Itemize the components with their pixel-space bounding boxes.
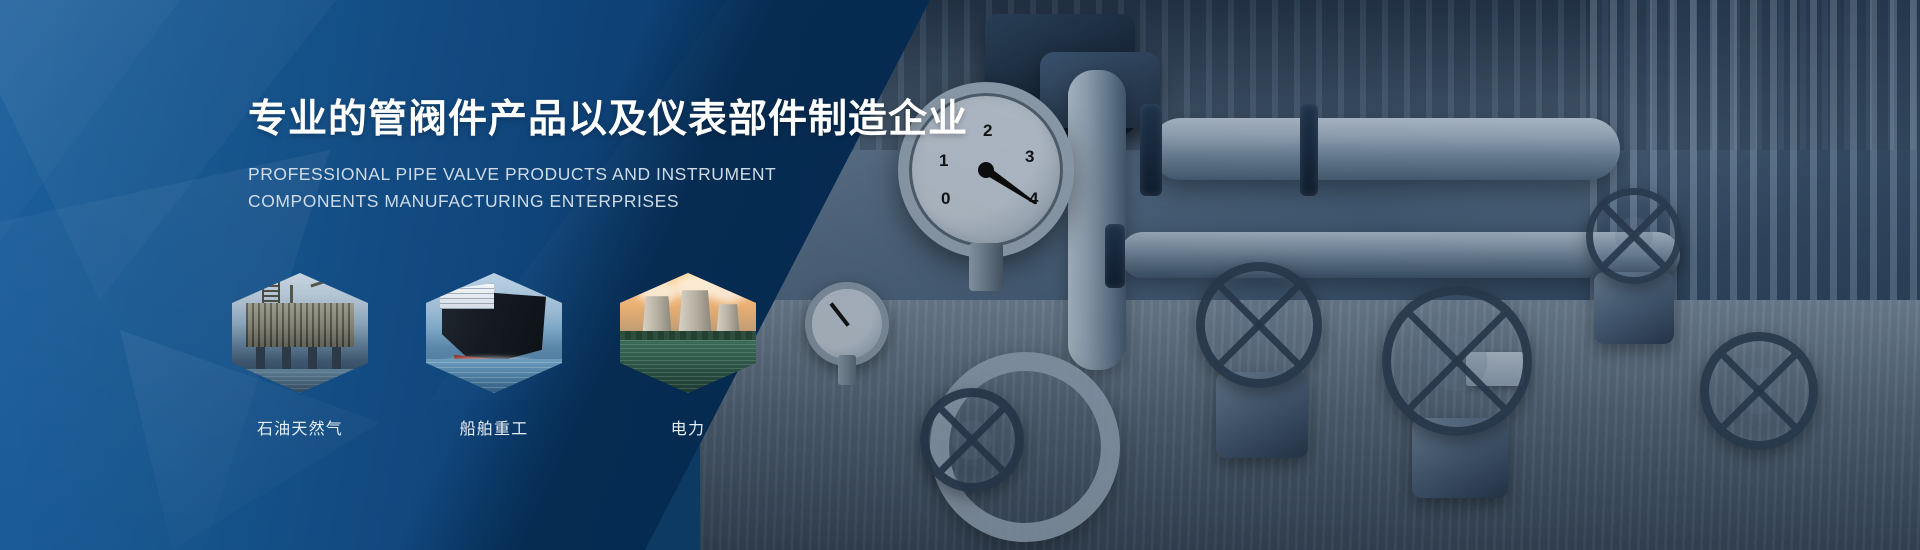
- oil-rig-image: [232, 273, 368, 393]
- ship-superstructure: [440, 283, 494, 309]
- hero-subtitle-line2: COMPONENTS MANUFACTURING ENTERPRISES: [248, 188, 968, 216]
- hero-subtitle: PROFESSIONAL PIPE VALVE PRODUCTS AND INS…: [248, 161, 968, 216]
- hero-subtitle-line1: PROFESSIONAL PIPE VALVE PRODUCTS AND INS…: [248, 161, 968, 189]
- sea-water: [426, 359, 562, 393]
- ship-hexagon-icon[interactable]: [426, 273, 562, 393]
- power-plant-image: [620, 273, 756, 393]
- ship-image: [426, 273, 562, 393]
- industry-item-power[interactable]: 电力: [620, 273, 756, 439]
- industry-label-shipbuilding: 船舶重工: [460, 415, 529, 439]
- hero-headline: 专业的管阀件产品以及仪表部件制造企业: [248, 96, 968, 144]
- industry-hexagon-row: 石油天然气 船舶重工: [232, 273, 756, 439]
- crane-boom: [310, 274, 345, 288]
- oil-rig-hexagon-icon[interactable]: [232, 273, 368, 393]
- industry-label-oil-gas: 石油天然气: [257, 415, 343, 439]
- rig-deck: [246, 303, 354, 347]
- steam-plume: [712, 285, 744, 303]
- industry-item-oil-gas[interactable]: 石油天然气: [232, 273, 368, 439]
- industry-item-shipbuilding[interactable]: 船舶重工: [426, 273, 562, 439]
- power-plant-hexagon-icon[interactable]: [620, 273, 756, 393]
- reservoir-water: [620, 340, 756, 393]
- hero-text-block: 专业的管阀件产品以及仪表部件制造企业 PROFESSIONAL PIPE VAL…: [248, 96, 968, 216]
- industry-label-power: 电力: [671, 415, 705, 439]
- hero-banner: 0 1 2 3 4 专业的管阀件产品以及仪表部件制造企业 PROFESSIONA…: [0, 0, 1920, 550]
- sea-water: [232, 369, 368, 393]
